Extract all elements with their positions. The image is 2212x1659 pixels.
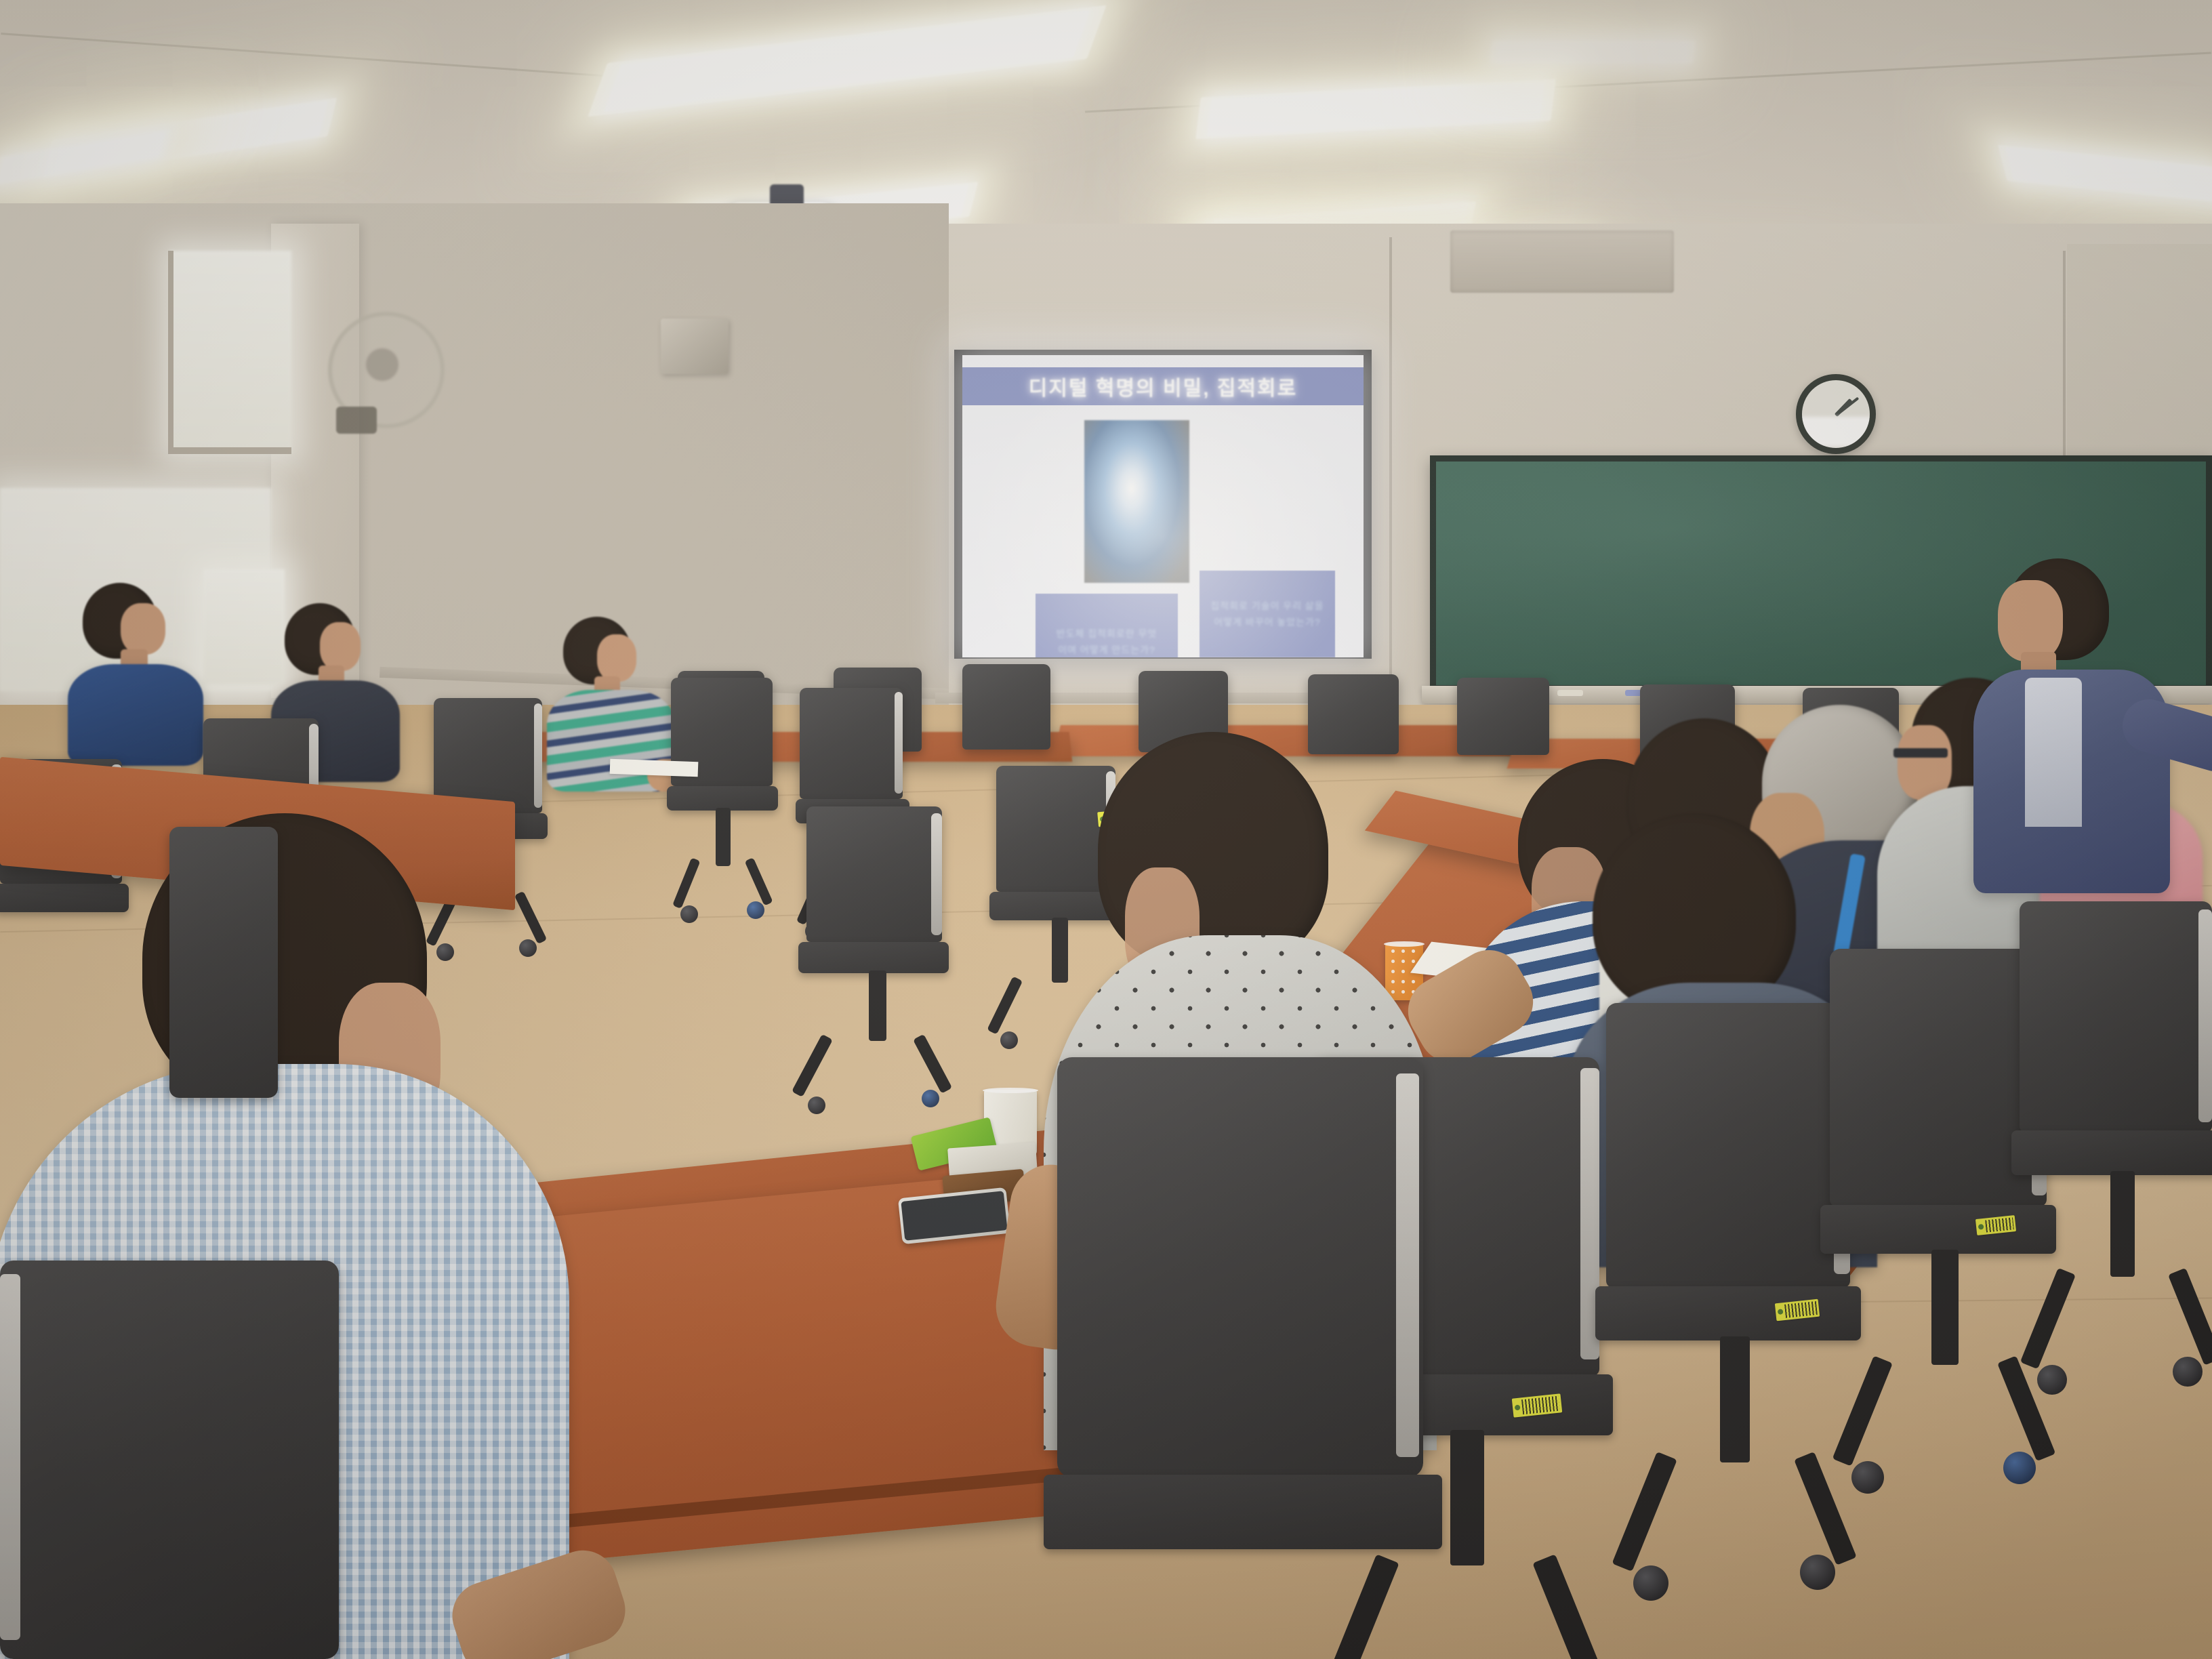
window-left-small xyxy=(203,569,285,684)
face xyxy=(597,634,636,682)
wall-speaker xyxy=(661,319,729,374)
wall-clock xyxy=(1796,374,1876,454)
glasses-icon xyxy=(1893,748,1948,758)
slide-text-box-left: 반도체 집적회로란 무엇 이며 어떻게 만드는가? xyxy=(1036,594,1178,657)
slide-title: 디지털 혁명의 비밀, 집적회로 xyxy=(1029,371,1298,401)
fan-arm xyxy=(336,407,377,434)
window-frame xyxy=(168,251,173,454)
fan-hub xyxy=(366,348,398,381)
document-papers-far[interactable] xyxy=(610,759,699,777)
clock-glare xyxy=(1798,417,1876,447)
slide-box-left-line-1: 반도체 집적회로란 무엇 xyxy=(1057,627,1158,640)
wall-fan xyxy=(319,305,447,427)
seminar-room-photo: 디지털 혁명의 비밀, 집적회로 반도체 집적회로란 무엇 이며 어떻게 만드는… xyxy=(0,0,2212,1659)
projection-screen-frame: 디지털 혁명의 비밀, 집적회로 반도체 집적회로란 무엇 이며 어떻게 만드는… xyxy=(954,350,1372,659)
torso xyxy=(68,664,203,766)
slide-box-right-line-1: 집적회로 기술이 우리 삶을 xyxy=(1210,599,1324,613)
chalk-piece xyxy=(1557,690,1583,696)
slide-box-right-line-2: 어떻게 바꾸어 놓았는가? xyxy=(1214,615,1320,629)
wall-seam xyxy=(1389,237,1392,712)
projection-screen: 디지털 혁명의 비밀, 집적회로 반도체 집적회로란 무엇 이며 어떻게 만드는… xyxy=(962,355,1364,657)
ceiling-light-12 xyxy=(1490,41,1696,64)
slide-photo xyxy=(1084,420,1189,583)
window-frame xyxy=(169,447,291,454)
slide-title-bar: 디지털 혁명의 비밀, 집적회로 xyxy=(962,367,1364,405)
ceiling-air-vent xyxy=(1450,230,1674,293)
face xyxy=(320,622,361,671)
slide-box-left-line-2: 이며 어떻게 만드는가? xyxy=(1058,643,1155,657)
dress-shirt xyxy=(2025,678,2082,827)
window-left-upper xyxy=(169,251,291,454)
slide-text-box-right: 집적회로 기술이 우리 삶을 어떻게 바꾸어 놓았는가? xyxy=(1200,571,1335,657)
face xyxy=(121,603,165,655)
face xyxy=(1998,580,2063,661)
